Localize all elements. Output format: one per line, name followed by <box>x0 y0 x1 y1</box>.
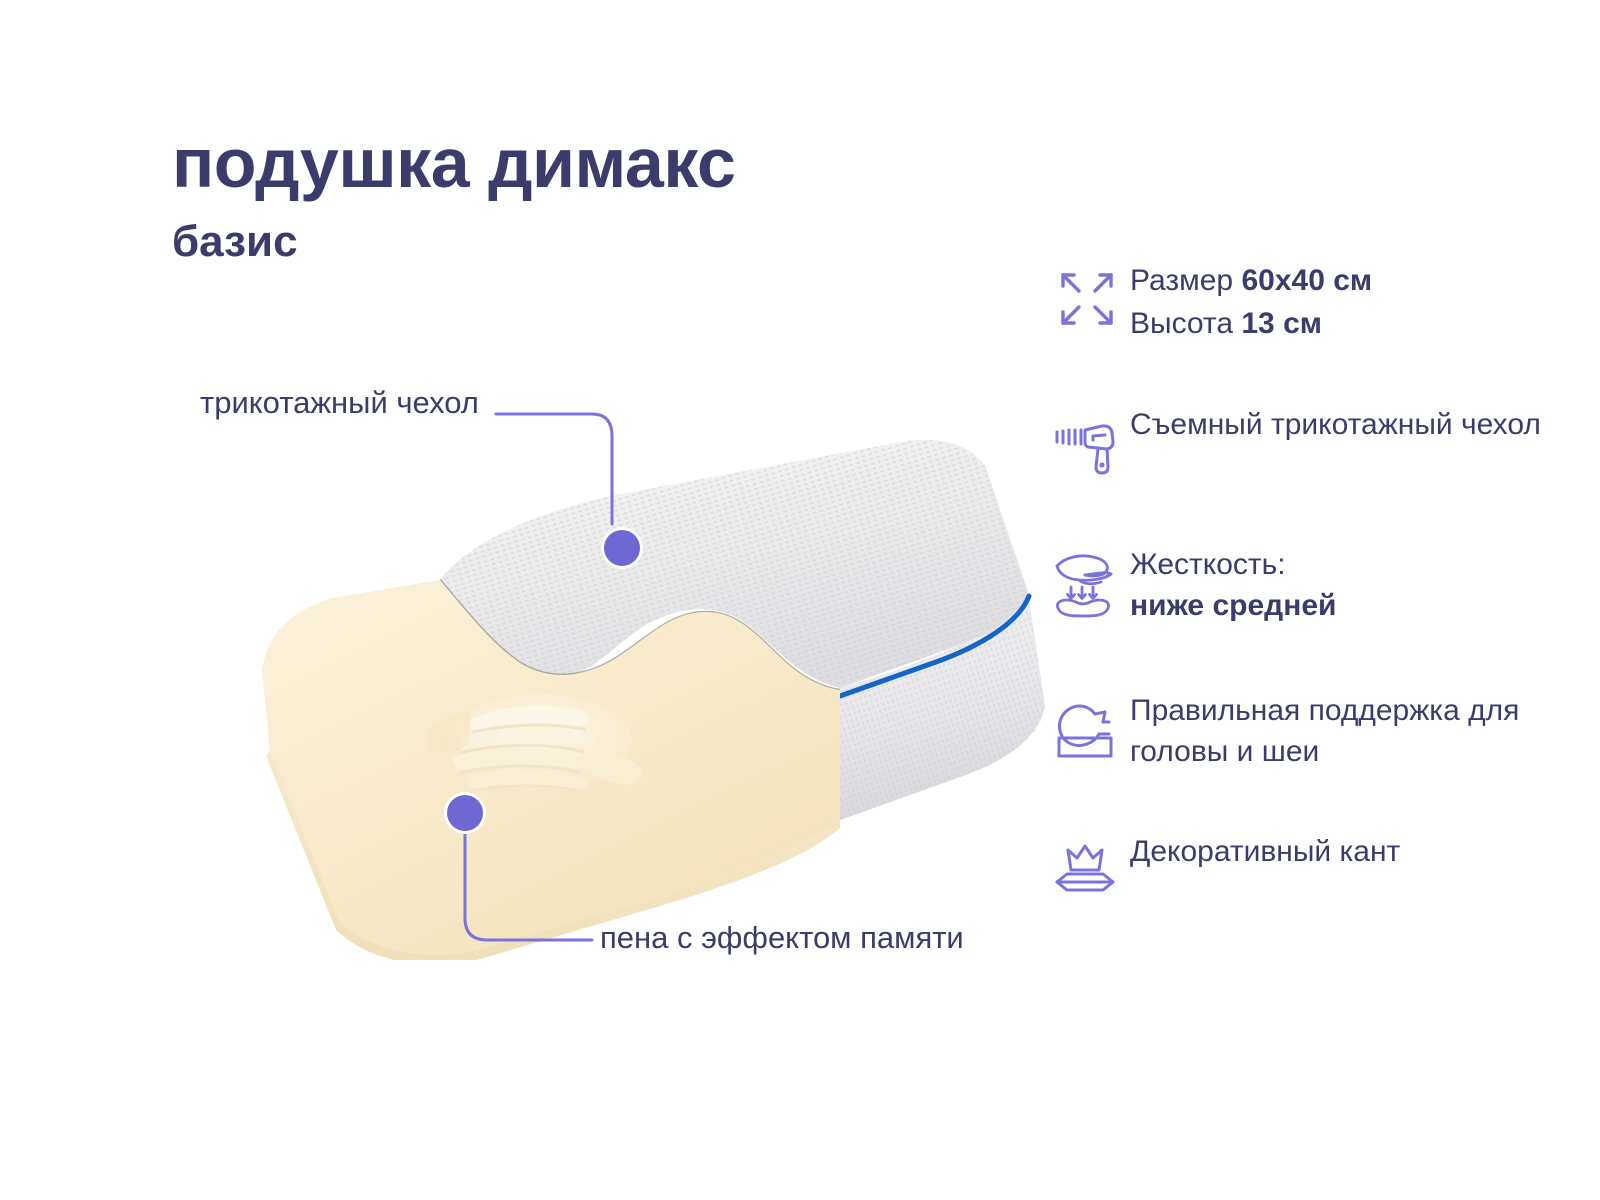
feature-decorative-piping-text: Декоративный кант <box>1130 830 1400 873</box>
feature-head-neck-support: Правильная поддержка для головы и шеи <box>1044 689 1564 773</box>
feature-list: Размер 60x40 см Высота 13 см <box>1044 258 1564 964</box>
pillow-illustration <box>140 420 1060 960</box>
feature-size-line-2: Высота 13 см <box>1130 303 1372 346</box>
height-label: Высота <box>1130 307 1241 340</box>
crown-pillow-icon <box>1044 830 1130 912</box>
infographic-page: подушка димакс базис <box>0 0 1600 1200</box>
feature-firmness: Жесткость: ниже средней <box>1044 543 1564 627</box>
feature-removable-cover-text: Съемный трикотажный чехол <box>1130 403 1541 446</box>
feature-head-neck-support-text: Правильная поддержка для головы и шеи <box>1130 689 1564 773</box>
feature-firmness-text: Жесткость: ниже средней <box>1130 543 1336 627</box>
feature-size-text: Размер 60x40 см Высота 13 см <box>1130 258 1372 345</box>
title-block: подушка димакс базис <box>172 128 735 264</box>
product-title: подушка димакс <box>172 128 735 198</box>
head-on-pillow-icon <box>1044 689 1130 771</box>
size-label: Размер <box>1130 264 1241 297</box>
zipper-icon <box>1044 403 1130 485</box>
size-value: 60x40 см <box>1241 264 1372 297</box>
product-subtitle: базис <box>172 220 735 264</box>
product-image <box>140 420 1060 960</box>
callout-label-knit-cover: трикотажный чехол <box>200 383 530 423</box>
feature-size-line-1: Размер 60x40 см <box>1130 260 1372 303</box>
feature-decorative-piping: Декоративный кант <box>1044 830 1564 912</box>
feature-size: Размер 60x40 см Высота 13 см <box>1044 258 1564 345</box>
firmness-value: ниже средней <box>1130 589 1336 622</box>
expand-arrows-icon <box>1044 258 1130 340</box>
callout-label-memory-foam: пена с эффектом памяти <box>600 918 1000 958</box>
firmness-label: Жесткость: <box>1130 545 1336 586</box>
height-value: 13 см <box>1241 307 1322 340</box>
hand-press-pillow-icon <box>1044 543 1130 625</box>
feature-removable-cover: Съемный трикотажный чехол <box>1044 403 1564 485</box>
